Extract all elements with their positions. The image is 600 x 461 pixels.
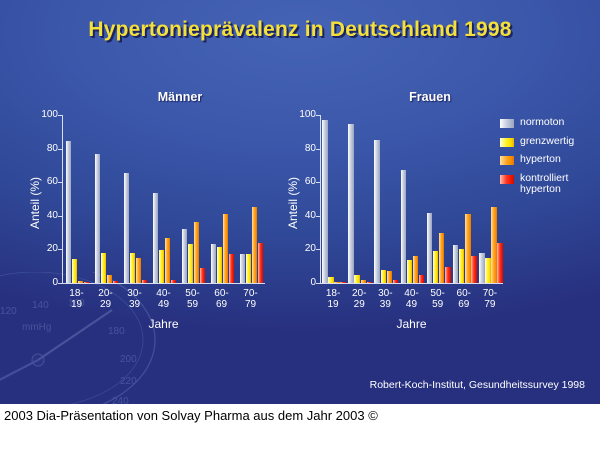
y-axis-tick-mark (316, 149, 320, 150)
bar-hyperton (136, 258, 142, 283)
legend-item-kontrolliert-hyperton: kontrolliert hyperton (500, 173, 574, 196)
y-axis-tick-mark (316, 249, 320, 250)
bar-normoton (322, 120, 328, 283)
bar-hyperton (78, 281, 84, 283)
legend-label: grenzwertig (520, 136, 574, 148)
legend-label: normoton (520, 117, 564, 129)
y-axis-title: Anteil (%) (286, 177, 300, 229)
legend-item-normoton: normoton (500, 117, 574, 129)
chart-maenner: 020406080100Anteil (%)18- 1920- 2930- 39… (30, 115, 265, 345)
page-title: Hypertonieprävalenz in Deutschland 1998 (0, 18, 600, 42)
bar-hyperton (223, 214, 229, 283)
bar-normoton (153, 193, 159, 283)
y-axis-tick-mark (316, 216, 320, 217)
caption-bar: 2003 Dia-Präsentation von Solvay Pharma … (0, 404, 600, 461)
bar-grenzwertig (159, 250, 165, 283)
legend-label: hyperton (520, 154, 561, 166)
x-axis-tick-label: 70- 79 (232, 288, 269, 310)
x-axis-line (62, 283, 265, 284)
bar-grenzwertig (246, 254, 252, 283)
bar-normoton (374, 140, 380, 283)
y-axis-line (320, 115, 321, 283)
bar-kontrolliert-hyperton (142, 280, 148, 283)
y-axis-tick-mark (58, 249, 62, 250)
bar-grenzwertig (407, 260, 413, 283)
chart-title-maenner: Männer (90, 90, 270, 104)
x-axis-title: Jahre (304, 317, 519, 331)
source-note: Robert-Koch-Institut, Gesundheitssurvey … (0, 379, 585, 391)
bar-grenzwertig (101, 253, 107, 283)
bar-hyperton (107, 275, 113, 283)
bar-kontrolliert-hyperton (367, 282, 373, 283)
bar-hyperton (387, 271, 393, 283)
bar-hyperton (439, 233, 445, 283)
bar-kontrolliert-hyperton (84, 282, 90, 283)
chart-frauen: 020406080100Anteil (%)18- 1920- 2930- 39… (288, 115, 503, 345)
bar-grenzwertig (354, 275, 360, 283)
y-axis-tick-label: 100 (32, 109, 58, 120)
bar-grenzwertig (188, 244, 194, 283)
bar-kontrolliert-hyperton (171, 280, 177, 283)
y-axis-tick-mark (58, 216, 62, 217)
bar-grenzwertig (459, 249, 465, 283)
bar-grenzwertig (328, 277, 334, 283)
bar-normoton (124, 173, 130, 283)
bar-kontrolliert-hyperton (340, 282, 346, 283)
y-axis-tick-label: 20 (32, 243, 58, 254)
bar-normoton (401, 170, 407, 283)
bar-normoton (240, 254, 246, 283)
bar-hyperton (252, 207, 258, 283)
bar-kontrolliert-hyperton (471, 256, 477, 283)
bar-hyperton (413, 256, 419, 283)
bar-hyperton (465, 214, 471, 283)
legend-swatch-grenzwertig (500, 138, 514, 147)
bar-normoton (453, 245, 459, 283)
legend-label: kontrolliert hyperton (520, 173, 568, 196)
caption-text: 2003 Dia-Präsentation von Solvay Pharma … (4, 408, 378, 423)
slide-canvas: 120 140 160 100 mmHg 180 200 220 240 Hyp… (0, 0, 600, 404)
bar-grenzwertig (485, 258, 491, 283)
bar-normoton (348, 124, 354, 283)
y-axis-tick-mark (316, 283, 320, 284)
y-axis-tick-mark (316, 115, 320, 116)
y-axis-line (62, 115, 63, 283)
y-axis-tick-label: 100 (290, 109, 316, 120)
legend-item-hyperton: hyperton (500, 154, 574, 166)
y-axis-tick-mark (316, 182, 320, 183)
bar-normoton (211, 244, 217, 283)
y-axis-tick-label: 0 (32, 277, 58, 288)
bar-grenzwertig (381, 270, 387, 283)
bar-normoton (66, 141, 72, 283)
bar-kontrolliert-hyperton (445, 267, 451, 283)
y-axis-tick-mark (58, 283, 62, 284)
chart-title-frauen: Frauen (340, 90, 520, 104)
bar-hyperton (334, 282, 340, 283)
bar-kontrolliert-hyperton (393, 280, 399, 283)
y-axis-tick-label: 80 (290, 143, 316, 154)
svg-text:200: 200 (120, 354, 137, 365)
bar-hyperton (361, 280, 367, 283)
y-axis-tick-label: 0 (290, 277, 316, 288)
legend-swatch-normoton (500, 119, 514, 128)
bar-hyperton (491, 207, 497, 283)
bar-normoton (479, 253, 485, 283)
bar-grenzwertig (72, 259, 78, 283)
bar-kontrolliert-hyperton (497, 243, 503, 283)
bar-kontrolliert-hyperton (258, 243, 264, 283)
x-axis-title: Jahre (46, 317, 281, 331)
bar-kontrolliert-hyperton (200, 268, 206, 283)
x-axis-line (320, 283, 503, 284)
bar-kontrolliert-hyperton (113, 281, 119, 283)
legend-swatch-kontrolliert-hyperton (500, 175, 514, 184)
legend-item-grenzwertig: grenzwertig (500, 136, 574, 148)
y-axis-tick-mark (58, 149, 62, 150)
bar-normoton (95, 154, 101, 283)
y-axis-tick-label: 80 (32, 143, 58, 154)
bar-grenzwertig (130, 253, 136, 283)
bar-normoton (427, 213, 433, 283)
bar-normoton (182, 229, 188, 283)
chart-legend: normotongrenzwertighypertonkontrolliert … (500, 117, 574, 203)
y-axis-tick-mark (58, 182, 62, 183)
y-axis-tick-mark (58, 115, 62, 116)
bar-hyperton (194, 222, 200, 283)
legend-swatch-hyperton (500, 156, 514, 165)
svg-text:120: 120 (0, 306, 17, 317)
bar-kontrolliert-hyperton (229, 254, 235, 283)
bar-hyperton (165, 238, 171, 283)
y-axis-tick-label: 20 (290, 243, 316, 254)
svg-text:240: 240 (112, 396, 129, 404)
bar-kontrolliert-hyperton (419, 275, 425, 283)
y-axis-title: Anteil (%) (28, 177, 42, 229)
bar-grenzwertig (217, 247, 223, 283)
bar-grenzwertig (433, 251, 439, 283)
x-axis-tick-label: 70- 79 (473, 288, 507, 310)
